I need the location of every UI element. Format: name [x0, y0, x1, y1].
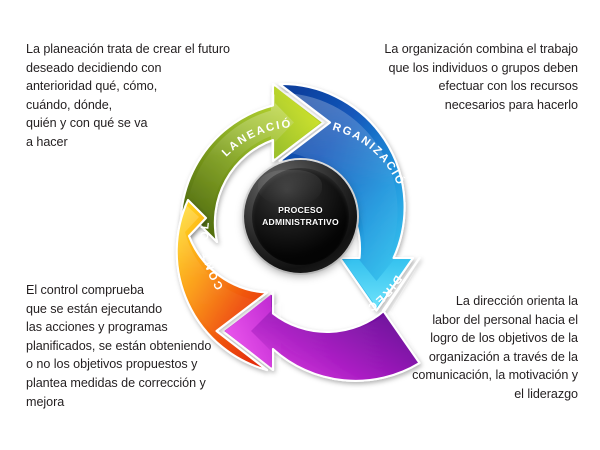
center-hub: PROCESO ADMINISTRATIVO	[244, 160, 357, 273]
diagram-canvas: La planeación trata de crear el futuro d…	[0, 0, 600, 450]
center-hub-line1: PROCESO	[262, 205, 339, 216]
center-hub-text: PROCESO ADMINISTRATIVO	[262, 205, 339, 228]
center-hub-line2: ADMINISTRATIVO	[262, 217, 339, 228]
